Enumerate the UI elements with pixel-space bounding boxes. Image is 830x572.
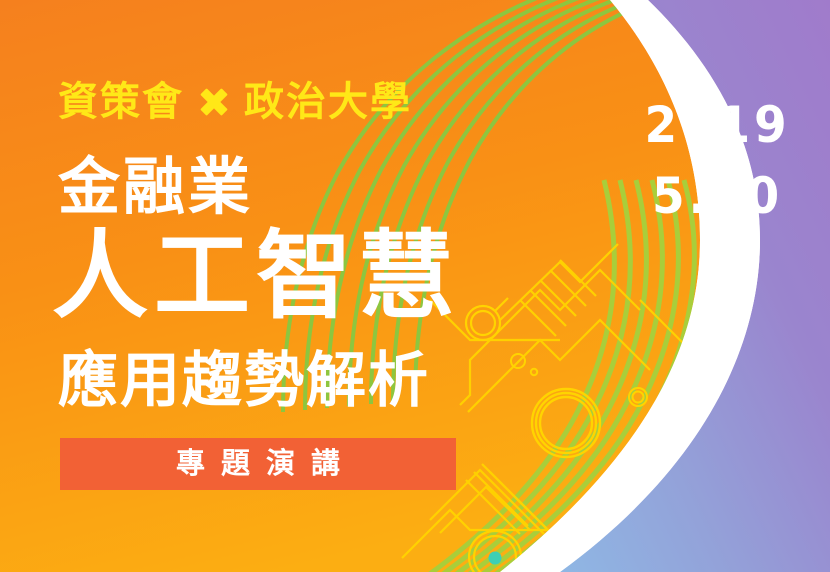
event-day: 5.10 [635, 167, 800, 226]
partner-line: 資策會 政治大學 [58, 82, 412, 122]
topic-badge-label: 專題演講 [160, 450, 356, 479]
title-headline: 人工智慧 [52, 227, 460, 328]
partner-organizer-label: 資策會 [58, 82, 184, 122]
event-poster: 資策會 政治大學 金融業 人工智慧 應用趨勢解析 專題演講 2019 5.10 [0, 0, 830, 572]
title-subhead: 應用趨勢解析 [58, 349, 430, 412]
event-year: 2019 [635, 96, 800, 155]
event-date: 2019 5.10 [630, 96, 805, 226]
partner-university-label: 政治大學 [244, 82, 412, 122]
poster-text-content: 資策會 政治大學 金融業 人工智慧 應用趨勢解析 專題演講 [0, 0, 520, 572]
title-industry: 金融業 [58, 155, 253, 220]
topic-badge: 專題演講 [60, 438, 456, 490]
cross-icon [194, 82, 234, 122]
